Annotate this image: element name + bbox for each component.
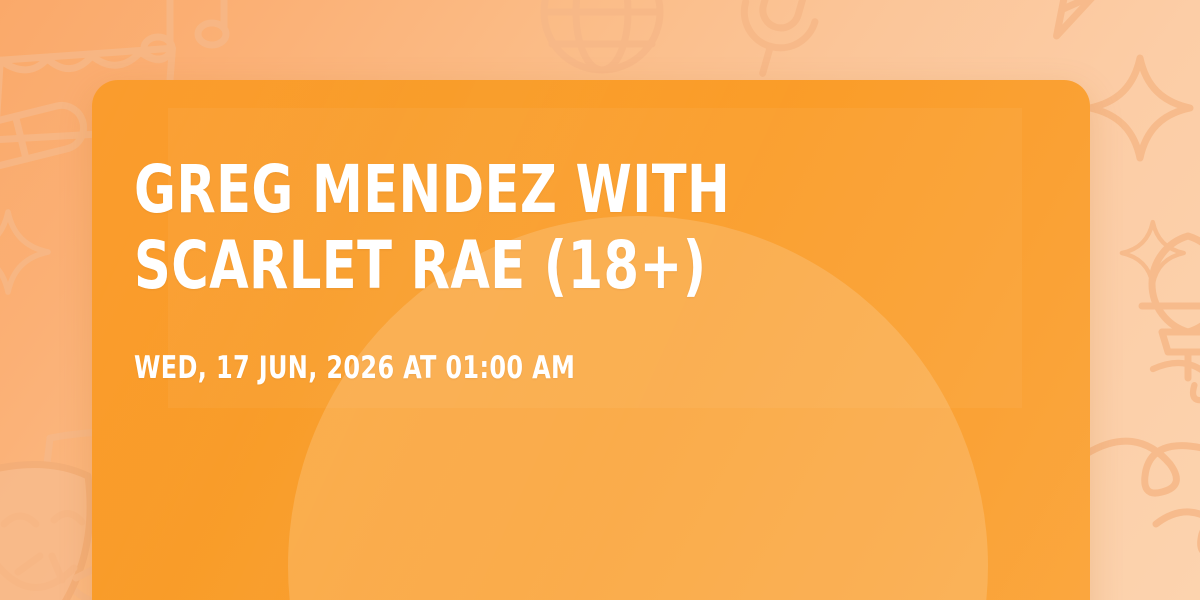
streamer-icon	[1153, 363, 1200, 400]
sparkle-icon	[0, 212, 48, 292]
confetti-icon	[1021, 0, 1159, 36]
streamer-icon	[1086, 441, 1200, 553]
event-datetime: Wed, 17 Jun, 2026 at 01:00 AM	[134, 350, 922, 386]
sparkle-icon	[1122, 222, 1184, 284]
event-card[interactable]: Greg Mendez with Scarlet Rae (18+) Wed, …	[92, 80, 1090, 600]
ticket-stub-icon	[0, 101, 88, 173]
microphone-icon	[728, 0, 830, 83]
card-content: Greg Mendez with Scarlet Rae (18+) Wed, …	[134, 152, 1050, 386]
globe-icon	[544, 0, 660, 70]
event-banner: Greg Mendez with Scarlet Rae (18+) Wed, …	[0, 0, 1200, 600]
event-title: Greg Mendez with Scarlet Rae (18+)	[134, 152, 922, 304]
balloon-icon	[1142, 236, 1200, 378]
music-note-icon	[144, 0, 226, 59]
confetti-icon	[18, 556, 100, 580]
sparkle-icon	[1090, 58, 1190, 158]
